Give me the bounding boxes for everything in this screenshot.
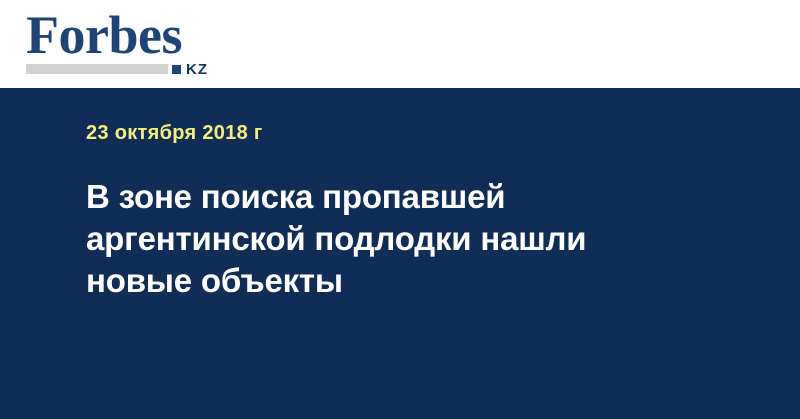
article-hero: 23 октября 2018 г В зоне поиска пропавше… [0,88,800,419]
forbes-kz-logo[interactable]: Forbes KZ [26,8,236,80]
logo-region-code: KZ [186,62,208,77]
article-date: 23 октября 2018 г [86,88,760,144]
forbes-wordmark: Forbes [26,8,182,62]
logo-underline-bar [26,64,168,74]
article-card: Forbes KZ 23 октября 2018 г В зоне поиск… [0,0,800,419]
article-headline[interactable]: В зоне поиска пропавшей аргентинской под… [86,144,606,302]
logo-square-icon [172,65,181,74]
site-header: Forbes KZ [0,0,800,88]
article-hero-content: 23 октября 2018 г В зоне поиска пропавше… [86,88,760,302]
